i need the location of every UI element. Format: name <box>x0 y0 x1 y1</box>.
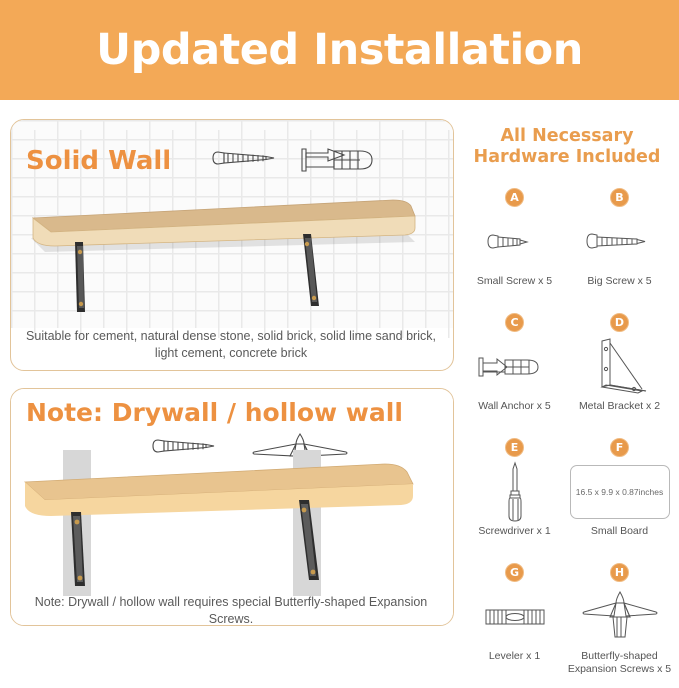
panel-drywall-title: Note: Drywall / hollow wall <box>26 398 403 427</box>
big-screw-label: Big Screw x 5 <box>587 275 651 288</box>
screwdriver-icon <box>500 461 530 523</box>
hardware-heading-line1: All Necessary <box>462 126 672 147</box>
badge-a: A <box>505 188 524 207</box>
small-screw-label: Small Screw x 5 <box>477 275 552 288</box>
badge-b: B <box>610 188 629 207</box>
screw-icon <box>213 152 274 164</box>
hardware-item-small-screw: A Small Screw x 5 <box>462 188 567 313</box>
badge-h: H <box>610 563 629 582</box>
badge-d: D <box>610 313 629 332</box>
butterfly-screw-figure <box>580 586 660 648</box>
header-banner: Updated Installation <box>0 0 679 100</box>
wall-anchor-icon <box>475 352 555 382</box>
panel-solid-wall-caption: Suitable for cement, natural dense stone… <box>24 328 438 362</box>
bracket-left <box>75 242 85 312</box>
hardware-item-metal-bracket: D Meta <box>567 313 672 438</box>
small-board-figure: 16.5 x 9.9 x 0.87inches <box>570 461 670 523</box>
shelf-illustration-drywall <box>11 450 441 596</box>
metal-bracket-figure <box>590 336 650 398</box>
hardware-list: All Necessary Hardware Included A <box>462 126 672 626</box>
big-screw-figure <box>584 211 656 273</box>
small-board-dimensions: 16.5 x 9.9 x 0.87inches <box>576 487 663 497</box>
wall-anchor-label: Wall Anchor x 5 <box>478 400 551 413</box>
badge-g: G <box>505 563 524 582</box>
butterfly-screw-label: Butterfly-shaped Expansion Screws x 5 <box>567 650 672 676</box>
solid-wall-hardware-art <box>210 140 420 180</box>
hardware-item-screwdriver: E Screwdriver x 1 <box>462 438 567 563</box>
big-screw-icon <box>584 229 656 255</box>
wall-anchor-icon <box>302 149 372 171</box>
hardware-item-small-board: F 16.5 x 9.9 x 0.87inches Small Board <box>567 438 672 563</box>
hardware-item-leveler: G Leveler x 1 <box>462 563 567 688</box>
badge-c: C <box>505 313 524 332</box>
infographic-page: Updated Installation Solid Wall <box>0 0 679 634</box>
hardware-list-heading: All Necessary Hardware Included <box>462 126 672 168</box>
hardware-item-wall-anchor: C Wall Anchor x 5 <box>462 313 567 438</box>
leveler-label: Leveler x 1 <box>489 650 540 663</box>
leveler-icon <box>480 602 550 632</box>
hardware-grid: A Small Screw x 5 B <box>462 188 672 688</box>
hardware-item-big-screw: B Big Screw x 5 <box>567 188 672 313</box>
badge-f: F <box>610 438 629 457</box>
shelf-illustration-solid-wall <box>11 190 441 330</box>
butterfly-screw-icon <box>580 589 660 645</box>
leveler-figure <box>480 586 550 648</box>
bracket-right <box>303 234 319 306</box>
small-board-label: Small Board <box>591 525 648 538</box>
metal-bracket-icon <box>590 337 650 397</box>
screwdriver-figure <box>500 461 530 523</box>
small-screw-icon <box>485 229 545 255</box>
page-title: Updated Installation <box>96 25 583 75</box>
wall-anchor-figure <box>475 336 555 398</box>
small-board-icon: 16.5 x 9.9 x 0.87inches <box>570 465 670 519</box>
metal-bracket-label: Metal Bracket x 2 <box>579 400 660 413</box>
screwdriver-label: Screwdriver x 1 <box>478 525 550 538</box>
hardware-item-butterfly-screw: H Butterfly-shaped Ex <box>567 563 672 688</box>
panel-drywall-caption: Note: Drywall / hollow wall requires spe… <box>24 594 438 628</box>
panel-solid-wall-title: Solid Wall <box>26 146 171 176</box>
badge-e: E <box>505 438 524 457</box>
hardware-heading-line2: Hardware Included <box>462 147 672 168</box>
small-screw-figure <box>485 211 545 273</box>
